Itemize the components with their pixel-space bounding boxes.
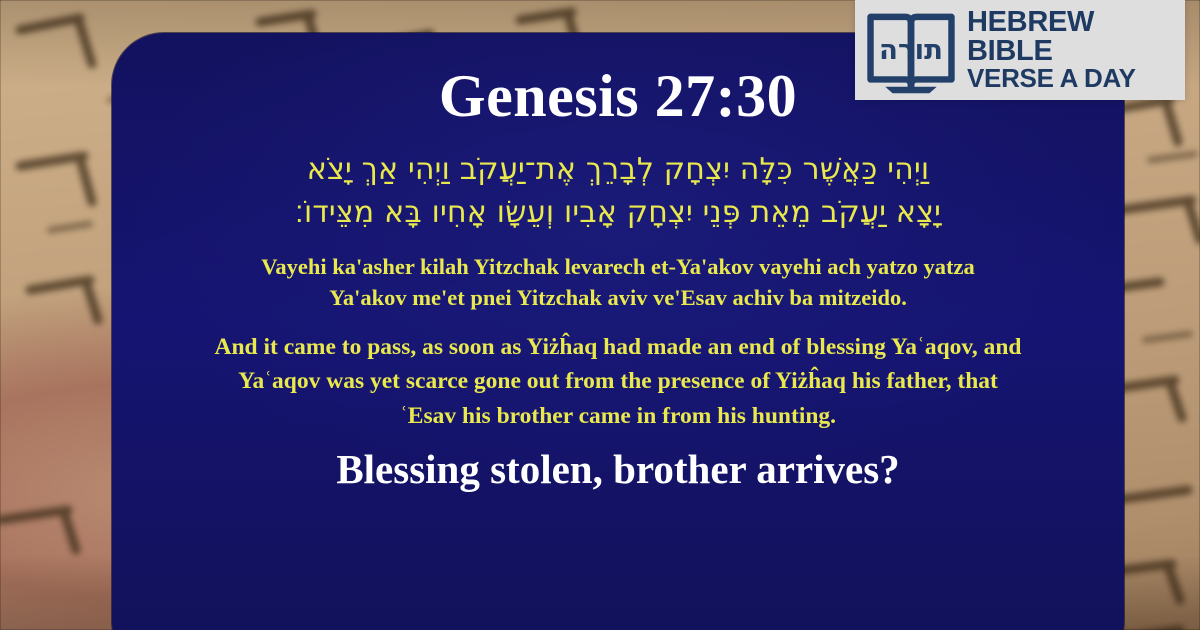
verse-card-content: Genesis 27:30 וַיְהִי כַּאֲשֶׁר כִּלָּה … bbox=[112, 33, 1124, 492]
logo-hebrew-word: תורה bbox=[879, 33, 943, 66]
brand-line-hebrew: HEBREW bbox=[967, 8, 1136, 37]
open-book-icon: תורה bbox=[865, 5, 957, 95]
hebrew-verse-text: וַיְהִי כַּאֲשֶׁר כִּלָּה יִצְחָק לְבָרֵ… bbox=[136, 149, 1100, 234]
brand-line-bible: BIBLE bbox=[967, 37, 1136, 66]
verse-tagline: Blessing stolen, brother arrives? bbox=[136, 447, 1100, 492]
hebrew-verse-line-2: יָצָא יַעֲקֹב מֵאֵת פְּנֵי יִצְחָק אָבִי… bbox=[142, 192, 1094, 235]
brand-logo-wordmark: HEBREW BIBLE VERSE A DAY bbox=[967, 8, 1136, 91]
english-translation-text: And it came to pass, as soon as Yiżĥaq h… bbox=[212, 330, 1024, 434]
brand-line-verse-a-day: VERSE A DAY bbox=[967, 66, 1136, 92]
transliteration-text: Vayehi ka'asher kilah Yitzchak levarech … bbox=[238, 251, 998, 314]
verse-card: Genesis 27:30 וַיְהִי כַּאֲשֶׁר כִּלָּה … bbox=[112, 33, 1124, 630]
screenshot-canvas: Genesis 27:30 וַיְהִי כַּאֲשֶׁר כִּלָּה … bbox=[0, 0, 1200, 630]
hebrew-verse-line-1: וַיְהִי כַּאֲשֶׁר כִּלָּה יִצְחָק לְבָרֵ… bbox=[142, 149, 1094, 192]
brand-logo-badge[interactable]: תורה HEBREW BIBLE VERSE A DAY bbox=[855, 0, 1185, 100]
